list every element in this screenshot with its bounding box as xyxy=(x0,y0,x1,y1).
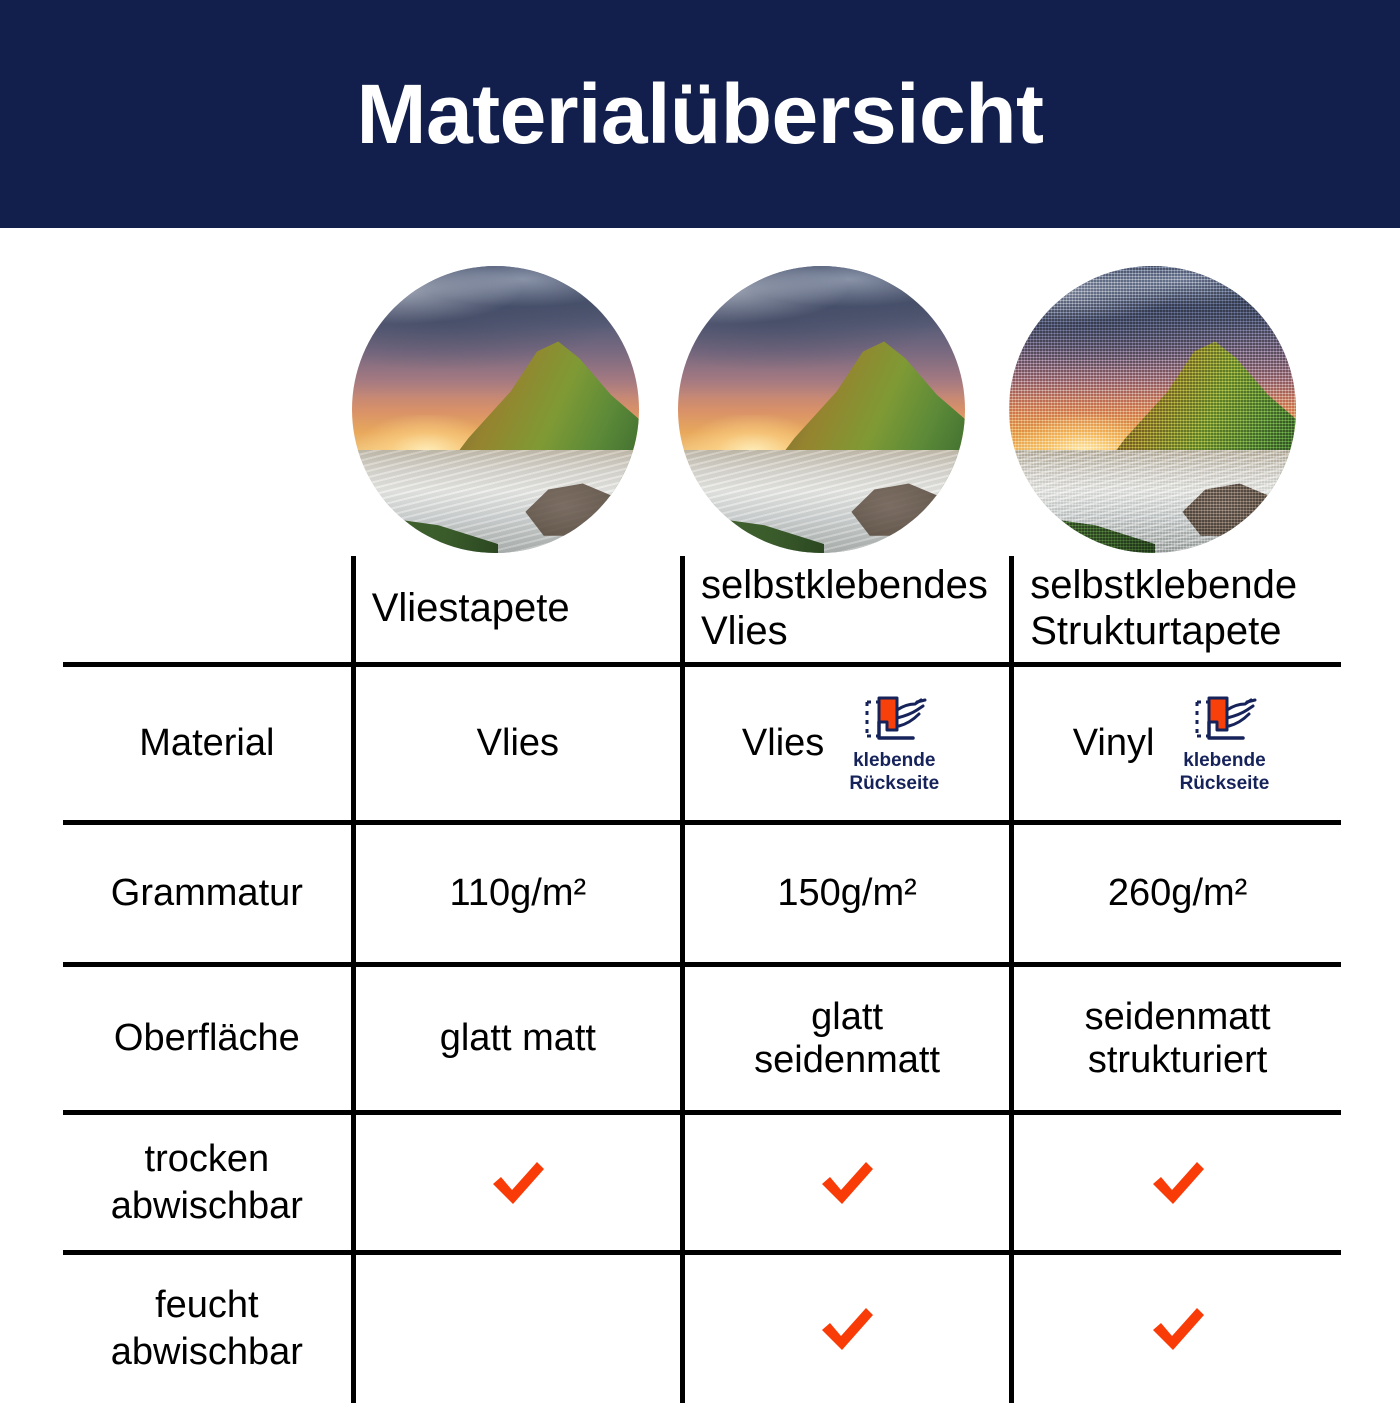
material-swatch-row xyxy=(352,266,1342,556)
page-title: Materialübersicht xyxy=(356,72,1043,156)
table-row: Material Vlies Vlies xyxy=(63,665,1341,823)
badge-label-line1: klebende xyxy=(853,750,935,771)
adhesive-backing-badge: klebende Rückseite xyxy=(1166,692,1282,795)
table-row: Grammatur 110g/m² 150g/m² 260g/m² xyxy=(63,823,1341,965)
checkmark-icon xyxy=(816,1303,878,1355)
landscape-image xyxy=(352,266,639,553)
row-label-feucht-abwischbar: feucht abwischbar xyxy=(63,1253,353,1403)
table-header-row: Vliestapete selbstklebendes Vlies selbst… xyxy=(63,556,1341,665)
cell-trocken-selbstklebendes-vlies xyxy=(682,1113,1011,1253)
table-row: Oberfläche glatt matt glatt seidenmatt s… xyxy=(63,965,1341,1113)
checkmark-icon xyxy=(1147,1157,1209,1209)
column-header-selbstklebendes-vlies: selbstklebendes Vlies xyxy=(682,556,1011,665)
header-banner: Materialübersicht xyxy=(0,0,1400,228)
row-label-trocken-abwischbar: trocken abwischbar xyxy=(63,1113,353,1253)
material-comparison-table: Vliestapete selbstklebendes Vlies selbst… xyxy=(63,556,1341,1400)
badge-label-line2: Rückseite xyxy=(849,773,939,794)
cell-value: Vlies xyxy=(742,722,824,765)
table-row: feucht abwischbar xyxy=(63,1253,1341,1403)
cell-oberflaeche-selbstklebendes-vlies: glatt seidenmatt xyxy=(682,965,1011,1113)
landscape-image xyxy=(678,266,965,553)
adhesive-backing-badge: klebende Rückseite xyxy=(836,692,952,795)
cell-oberflaeche-selbstklebende-strukturtapete: seidenmatt strukturiert xyxy=(1012,965,1341,1113)
adhesive-backing-icon xyxy=(857,692,931,748)
cell-grammatur-selbstklebende-strukturtapete: 260g/m² xyxy=(1012,823,1341,965)
cell-grammatur-vliestapete: 110g/m² xyxy=(353,823,682,965)
badge-label-line2: Rückseite xyxy=(1180,773,1270,794)
cell-value: Vinyl xyxy=(1073,722,1155,765)
badge-label-line1: klebende xyxy=(1183,750,1265,771)
swatch-vliestapete[interactable] xyxy=(352,266,639,553)
cell-oberflaeche-vliestapete: glatt matt xyxy=(353,965,682,1113)
checkmark-icon xyxy=(816,1157,878,1209)
cell-trocken-selbstklebende-strukturtapete xyxy=(1012,1113,1341,1253)
cell-material-vliestapete: Vlies xyxy=(353,665,682,823)
landscape-image xyxy=(1009,266,1296,553)
cell-material-selbstklebende-strukturtapete: Vinyl xyxy=(1012,665,1341,823)
cell-feucht-selbstklebende-strukturtapete xyxy=(1012,1253,1341,1403)
row-label-material: Material xyxy=(63,665,353,823)
cell-feucht-vliestapete xyxy=(353,1253,682,1403)
swatch-selbstklebendes-vlies[interactable] xyxy=(678,266,965,553)
checkmark-icon xyxy=(487,1157,549,1209)
swatch-selbstklebende-strukturtapete[interactable] xyxy=(1009,266,1296,553)
column-header-vliestapete: Vliestapete xyxy=(353,556,682,665)
badge-label: klebende Rückseite xyxy=(1180,750,1270,795)
cell-grammatur-selbstklebendes-vlies: 150g/m² xyxy=(682,823,1011,965)
badge-label: klebende Rückseite xyxy=(849,750,939,795)
cell-material-selbstklebendes-vlies: Vlies xyxy=(682,665,1011,823)
row-label-oberflaeche: Oberfläche xyxy=(63,965,353,1113)
checkmark-icon xyxy=(1147,1303,1209,1355)
adhesive-backing-icon xyxy=(1187,692,1261,748)
cell-feucht-selbstklebendes-vlies xyxy=(682,1253,1011,1403)
cell-value: Vlies xyxy=(477,722,559,765)
table-row: trocken abwischbar xyxy=(63,1113,1341,1253)
header-blank-cell xyxy=(63,556,353,665)
row-label-grammatur: Grammatur xyxy=(63,823,353,965)
column-header-selbstklebende-strukturtapete: selbstklebende Strukturtapete xyxy=(1012,556,1341,665)
cell-trocken-vliestapete xyxy=(353,1113,682,1253)
